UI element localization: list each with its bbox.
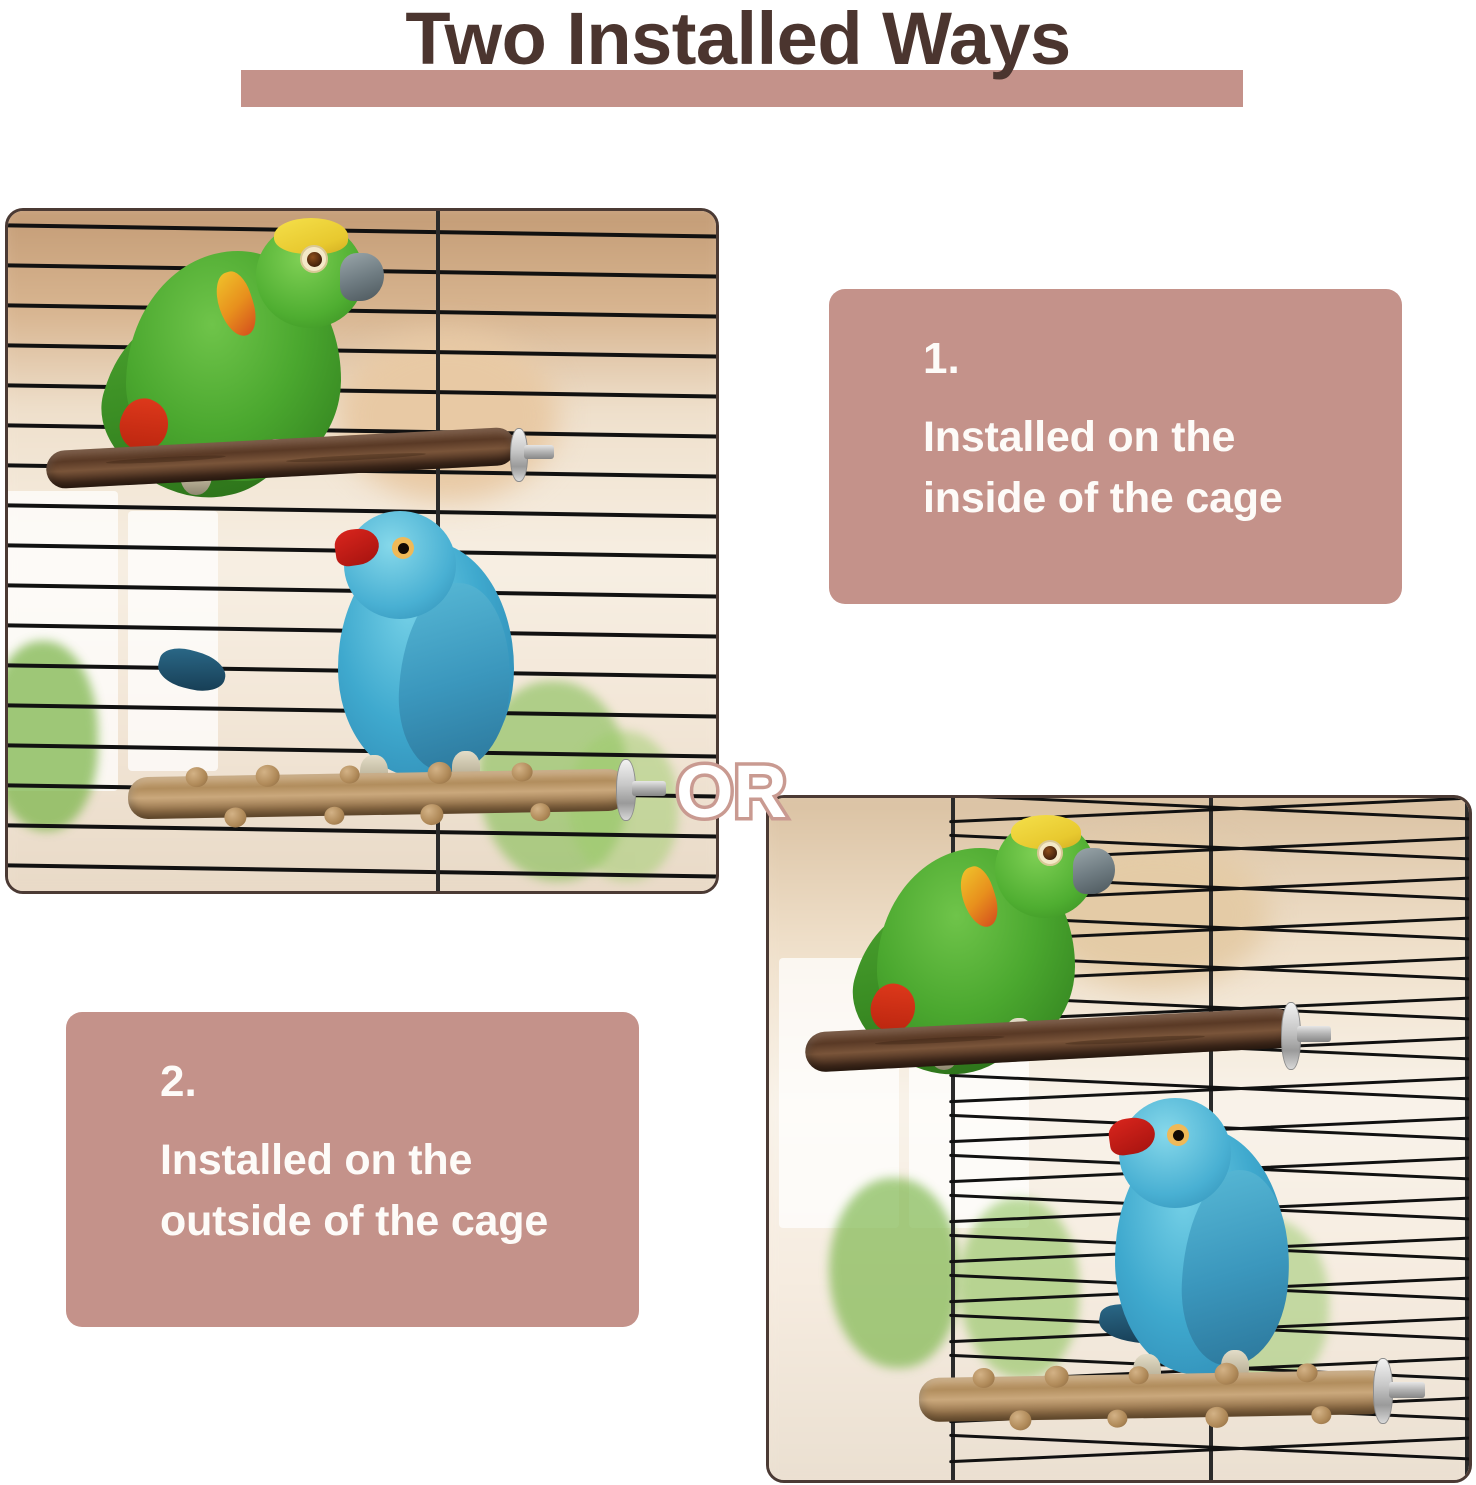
bark-knob <box>972 1368 994 1388</box>
page-title: Two Installed Ways <box>0 2 1476 76</box>
callout-number: 1. <box>923 337 1402 381</box>
page-title-block: Two Installed Ways <box>0 0 1476 150</box>
callout-inside-mount: 1. Installed on the inside of the cage <box>829 289 1402 604</box>
bark-texture <box>286 451 426 463</box>
bark-knob <box>1128 1366 1148 1384</box>
background-foliage <box>829 1178 959 1368</box>
knobby-bark-perch <box>128 769 629 820</box>
bark-knob <box>511 762 532 781</box>
or-separator: OR <box>676 755 787 829</box>
parrot-pupil <box>307 252 322 267</box>
bark-texture <box>106 454 226 465</box>
knobby-bark-perch <box>919 1370 1390 1422</box>
metal-screw-shaft <box>524 445 554 459</box>
bark-knob <box>186 767 208 787</box>
bark-knob <box>427 762 451 784</box>
bark-knob <box>255 765 279 787</box>
metal-screw-shaft <box>1297 1026 1331 1042</box>
parakeet-head <box>344 511 456 619</box>
callout-line-2: inside of the cage <box>923 468 1402 529</box>
callout-outside-mount: 2. Installed on the outside of the cage <box>66 1012 639 1327</box>
bark-knob <box>1296 1363 1317 1382</box>
callout-line-1: Installed on the <box>160 1130 639 1191</box>
infographic-root: Two Installed Ways <box>0 0 1476 1485</box>
bark-texture <box>875 1034 1005 1046</box>
inside-mount-photo <box>5 208 719 894</box>
background-foliage <box>959 1198 1079 1378</box>
bark-knob <box>339 765 359 783</box>
callout-line-1: Installed on the <box>923 407 1402 468</box>
callout-number: 2. <box>160 1060 639 1104</box>
metal-screw-shaft <box>632 781 666 796</box>
parakeet-pupil <box>1173 1130 1184 1141</box>
metal-screw-shaft <box>1389 1382 1425 1398</box>
parrot-pupil <box>1043 846 1057 860</box>
bark-knob <box>1214 1363 1238 1385</box>
parakeet-pupil <box>398 543 409 554</box>
bark-texture <box>1065 1034 1205 1046</box>
bark-knob <box>1044 1365 1068 1387</box>
outside-mount-photo <box>766 795 1472 1483</box>
callout-line-2: outside of the cage <box>160 1191 639 1252</box>
